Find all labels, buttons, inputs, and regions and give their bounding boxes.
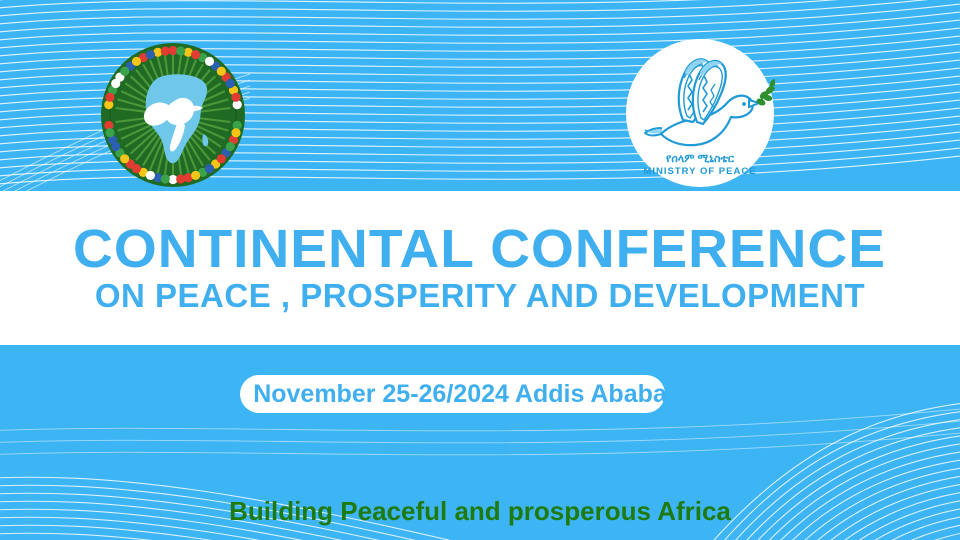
page-title: CONTINENTAL CONFERENCE — [74, 222, 887, 277]
page-subtitle: ON PEACE , PROSPERITY AND DEVELOPMENT — [95, 279, 865, 314]
ministry-english-text: MINISTRY OF PEACE — [643, 166, 756, 177]
african-union-emblem-icon — [100, 42, 246, 188]
date-badge-label: November 25-26/2024 Addis Ababa — [240, 375, 680, 413]
ministry-of-peace-logo-icon: የሰላም ሚኒስቴር MINISTRY OF PEACE — [625, 38, 775, 188]
tagline: Building Peaceful and prosperous Africa — [0, 496, 960, 527]
title-band: CONTINENTAL CONFERENCE ON PEACE , PROSPE… — [0, 191, 960, 345]
ministry-amharic-text: የሰላም ሚኒስቴር — [666, 153, 735, 165]
conference-banner: የሰላም ሚኒስቴር MINISTRY OF PEACE CONTINENTAL… — [0, 0, 960, 540]
